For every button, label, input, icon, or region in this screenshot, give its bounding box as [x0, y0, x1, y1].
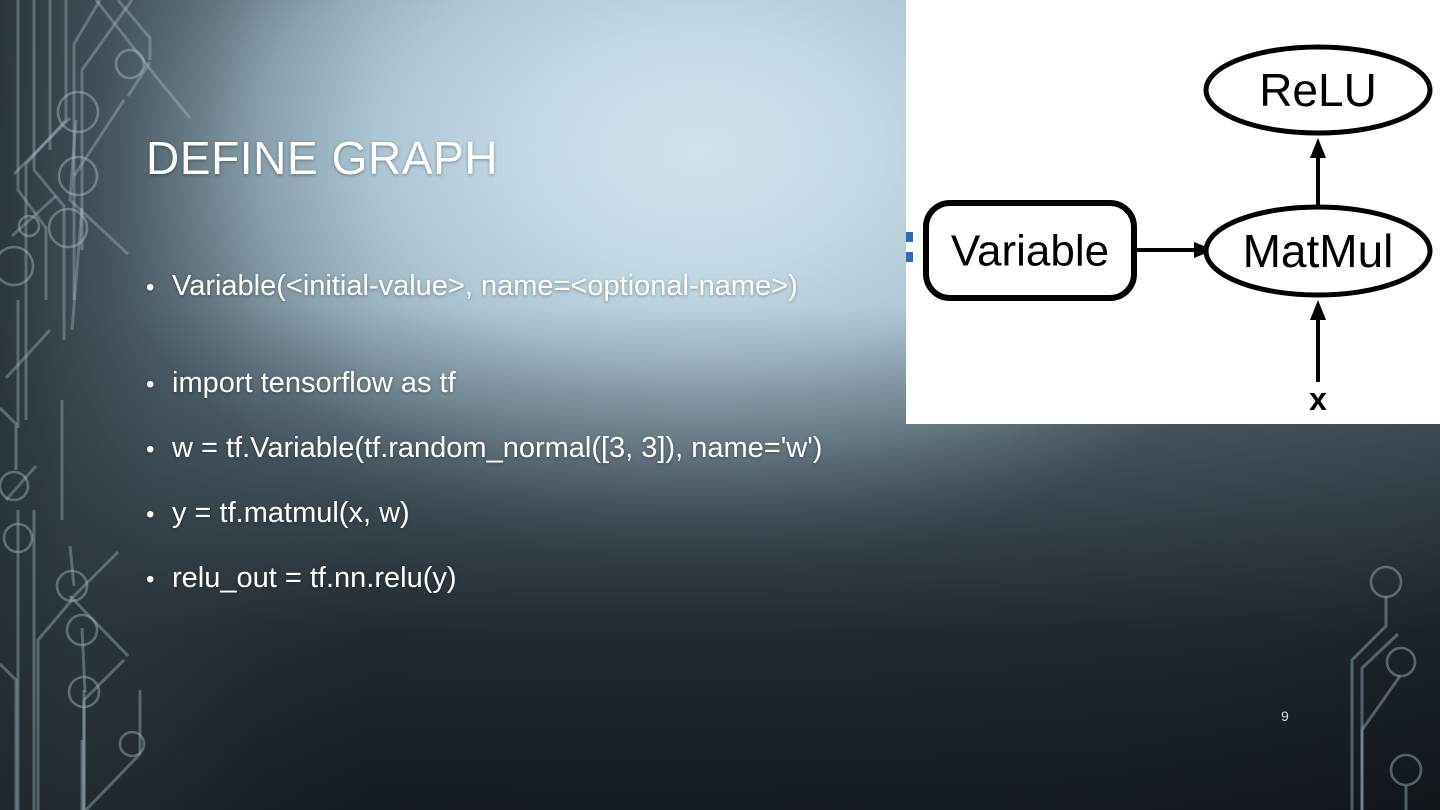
page-number: 9: [1281, 708, 1289, 724]
list-item-text: import tensorflow as tf: [172, 369, 456, 398]
arrowhead-up-matmul: [1310, 300, 1326, 320]
bullet-marker-icon: •: [146, 568, 172, 592]
node-variable-label: Variable: [951, 227, 1109, 276]
list-item: • w = tf.Variable(tf.random_normal([3, 3…: [146, 434, 1266, 463]
list-item-text: w = tf.Variable(tf.random_normal([3, 3])…: [172, 434, 822, 463]
bullet-marker-icon: •: [146, 438, 172, 462]
list-item-text: relu_out = tf.nn.relu(y): [172, 564, 457, 593]
list-item-text: y = tf.matmul(x, w): [172, 499, 410, 528]
node-x-label: x: [1309, 381, 1327, 417]
arrowhead-up-relu: [1310, 138, 1326, 158]
graph-image-panel: ReLU MatMul Variable x: [906, 0, 1440, 424]
list-item: • y = tf.matmul(x, w): [146, 499, 1266, 528]
bullet-marker-icon: •: [146, 276, 172, 300]
bullet-marker-icon: •: [146, 373, 172, 397]
bullet-marker-icon: •: [146, 503, 172, 527]
computation-graph-diagram: ReLU MatMul Variable x: [906, 0, 1440, 424]
node-matmul-label: MatMul: [1243, 225, 1394, 277]
clipped-blue-glyph-upper: [906, 232, 913, 242]
list-item-text: Variable(<initial-value>, name=<optional…: [172, 272, 798, 301]
slide-title: DEFINE GRAPH: [146, 131, 498, 185]
clipped-blue-glyph-lower: [906, 252, 913, 262]
list-item: • relu_out = tf.nn.relu(y): [146, 564, 1266, 593]
node-relu-label: ReLU: [1259, 64, 1377, 116]
slide: DEFINE GRAPH • Variable(<initial-value>,…: [0, 0, 1440, 810]
